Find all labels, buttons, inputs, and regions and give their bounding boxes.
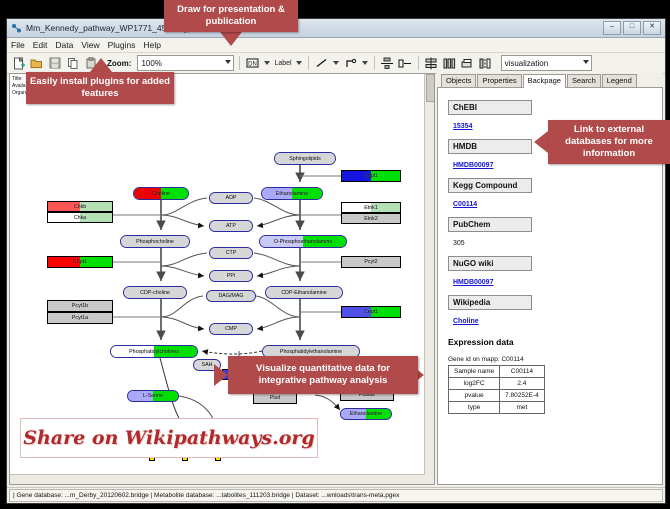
db-header-wikipedia: Wikipedia bbox=[448, 295, 532, 310]
datanode-tool-icon[interactable]: DN bbox=[245, 56, 260, 71]
line-dropdown-icon[interactable] bbox=[332, 56, 340, 70]
zoom-value: 100% bbox=[141, 59, 161, 68]
node-label: Pcyt1b bbox=[72, 303, 88, 309]
window-title-bar: Mm_Kennedy_pathway_WP1771_45176.gpml – □… bbox=[7, 19, 665, 38]
menu-item-plugins[interactable]: Plugins bbox=[108, 40, 136, 50]
annotation-links: Link to external databases for more info… bbox=[548, 120, 670, 164]
chevron-down-icon bbox=[583, 60, 589, 64]
node-label: ATP bbox=[226, 223, 236, 229]
db-header-hmdb: HMDB bbox=[448, 139, 532, 154]
menu-item-view[interactable]: View bbox=[81, 40, 99, 50]
scrollbar-thumb[interactable] bbox=[426, 74, 435, 102]
close-button[interactable]: ✕ bbox=[643, 21, 661, 35]
node-label: Sphingolipids bbox=[289, 156, 321, 162]
gene-node-etnk1[interactable]: Etnk1 bbox=[341, 202, 401, 213]
node-label: ADP bbox=[226, 195, 237, 201]
menu-bar: File Edit Data View Plugins Help bbox=[7, 38, 665, 53]
node-label: Etnk2 bbox=[364, 216, 378, 222]
node-label: CDP-choline bbox=[140, 290, 170, 296]
svg-text:DN: DN bbox=[249, 62, 258, 68]
expression-data-title: Expression data bbox=[448, 337, 662, 347]
annotation-plugins-arrow bbox=[90, 58, 112, 72]
visualization-combobox[interactable]: visualization bbox=[501, 55, 592, 71]
db-link-wikipedia[interactable]: Choline bbox=[453, 318, 479, 325]
minimize-button[interactable]: – bbox=[603, 21, 621, 35]
metabolite-node-ctp[interactable]: CTP bbox=[209, 247, 253, 259]
metabolite-node-o-phosphoethanolamine[interactable]: O-Phosphoethanolamine bbox=[259, 235, 347, 248]
save-disk-icon[interactable] bbox=[47, 56, 62, 71]
receptor-tool-icon[interactable] bbox=[343, 56, 358, 71]
metabolite-node-phosphocholine[interactable]: Phosphocholine bbox=[120, 235, 190, 248]
node-label: Etnk1 bbox=[364, 205, 378, 211]
gene-node-pcyt1b[interactable]: Pcyt1b bbox=[47, 300, 113, 312]
maximize-button[interactable]: □ bbox=[623, 21, 641, 35]
annotation-share: Share on Wikipathways.org bbox=[20, 418, 318, 458]
metabolite-node-cdp-choline[interactable]: CDP-choline bbox=[123, 286, 187, 299]
zoom-combobox[interactable]: 100% bbox=[137, 55, 234, 71]
group-icon[interactable] bbox=[398, 56, 413, 71]
gene-node-cept1[interactable]: Cept1 bbox=[341, 306, 401, 318]
metabolite-node-cmp[interactable]: CMP bbox=[209, 323, 253, 335]
status-bar-text: | Gene database: ...m_Derby_20120602.bri… bbox=[9, 489, 663, 502]
table-key-cell: Sample name bbox=[449, 366, 500, 378]
table-row: log2FC2.4 bbox=[449, 378, 545, 390]
pathvisio-icon bbox=[11, 23, 22, 34]
node-label: SAH bbox=[202, 362, 213, 368]
db-value-pubchem: 305 bbox=[453, 240, 465, 247]
menu-item-data[interactable]: Data bbox=[55, 40, 73, 50]
toolbar-separator bbox=[374, 56, 375, 70]
metabolite-node-sphingolipids[interactable]: Sphingolipids bbox=[274, 152, 336, 165]
db-header-kegg-compound: Kegg Compound bbox=[448, 178, 532, 193]
table-row: typemet bbox=[449, 402, 545, 414]
node-label: Pcyt2 bbox=[364, 259, 377, 265]
table-key-cell: log2FC bbox=[449, 378, 500, 390]
window-controls: – □ ✕ bbox=[603, 21, 661, 35]
node-label: L-Serine bbox=[143, 393, 163, 399]
annotation-visualize-arrow-left bbox=[214, 364, 228, 386]
menu-item-edit[interactable]: Edit bbox=[33, 40, 48, 50]
datanode-dropdown-icon[interactable] bbox=[263, 56, 271, 70]
distribute-icon[interactable] bbox=[442, 56, 457, 71]
tab-backpage[interactable]: Backpage bbox=[523, 74, 566, 88]
canvas-vertical-scrollbar[interactable] bbox=[424, 74, 434, 484]
tab-legend[interactable]: Legend bbox=[602, 74, 637, 87]
annotation-plugins: Easily install plugins for added feature… bbox=[26, 72, 174, 104]
toolbar-separator bbox=[239, 56, 240, 70]
metabolite-node-choline[interactable]: Choline bbox=[133, 187, 189, 200]
line-tool-icon[interactable] bbox=[314, 56, 329, 71]
gene-node-pcyt1a[interactable]: Pcyt1a bbox=[47, 312, 113, 324]
gene-node-pcyt2[interactable]: Pcyt2 bbox=[341, 256, 401, 268]
label-dropdown-icon[interactable] bbox=[295, 56, 303, 70]
expression-data-table: Sample nameC00114log2FC2.4pvalue7.80252E… bbox=[448, 365, 545, 414]
node-label: Choline bbox=[152, 191, 170, 197]
metabolite-node-ethanolamine[interactable]: Ethanolamine bbox=[340, 408, 392, 420]
gene-node-etnk2[interactable]: Etnk2 bbox=[341, 213, 401, 224]
menu-item-help[interactable]: Help bbox=[144, 40, 161, 50]
screenshot-root: Mm_Kennedy_pathway_WP1771_45176.gpml – □… bbox=[0, 0, 670, 509]
node-label: Pcyt1a bbox=[72, 315, 88, 321]
visualization-value: visualization bbox=[505, 59, 549, 68]
table-row: Sample nameC00114 bbox=[449, 366, 545, 378]
db-link-chebi[interactable]: 15354 bbox=[453, 123, 472, 130]
table-value-cell: met bbox=[500, 402, 545, 414]
node-label: O-Phosphoethanolamine bbox=[274, 239, 333, 245]
stack-icon[interactable] bbox=[424, 56, 439, 71]
annotation-draw: Draw for presentation & publication bbox=[164, 0, 298, 32]
db-link-hmdb[interactable]: HMDB00097 bbox=[453, 162, 493, 169]
node-label: Cept1 bbox=[364, 309, 378, 315]
metabolite-node-ppi[interactable]: PPi bbox=[209, 270, 253, 282]
menu-item-file[interactable]: File bbox=[11, 40, 25, 50]
gene-node-chkb[interactable]: Chkb bbox=[47, 201, 113, 212]
metabolite-node-ethanolamine[interactable]: Ethanolamine bbox=[261, 187, 323, 200]
gene-id-line: Gene id on mapp: C00114 bbox=[448, 356, 662, 363]
node-label: DAG/MAG bbox=[218, 293, 243, 299]
align-icon[interactable] bbox=[380, 56, 395, 71]
metabolite-node-adp[interactable]: ADP bbox=[209, 192, 253, 204]
annotation-links-arrow bbox=[534, 131, 548, 153]
new-file-icon[interactable] bbox=[11, 56, 26, 71]
node-label: CTP bbox=[226, 250, 237, 256]
table-key-cell: pvalue bbox=[449, 390, 500, 402]
status-bar: | Gene database: ...m_Derby_20120602.bri… bbox=[7, 487, 665, 503]
node-label: Phosphatidylethanolamine bbox=[280, 349, 342, 355]
tab-search[interactable]: Search bbox=[567, 74, 601, 87]
annotation-share-text: Share on Wikipathways.org bbox=[23, 427, 314, 449]
gene-node-chka[interactable]: Chka bbox=[47, 212, 113, 223]
table-value-cell: 2.4 bbox=[500, 378, 545, 390]
node-label: Phosphatidylcholines bbox=[129, 349, 179, 355]
node-label: Sgpl1 bbox=[364, 173, 378, 179]
toolbar-separator bbox=[418, 56, 419, 70]
metabolite-node-l-serine[interactable]: L-Serine bbox=[127, 390, 179, 402]
order-icon[interactable] bbox=[460, 56, 475, 71]
window-title: Mm_Kennedy_pathway_WP1771_45176.gpml bbox=[26, 23, 603, 33]
tab-objects[interactable]: Objects bbox=[441, 74, 476, 87]
side-panel-tabs: ObjectsPropertiesBackpageSearchLegend bbox=[437, 73, 663, 88]
node-label: Phosphocholine bbox=[136, 239, 174, 245]
db-header-nugo-wiki: NuGO wiki bbox=[448, 256, 532, 271]
receptor-dropdown-icon[interactable] bbox=[361, 56, 369, 70]
db-link-kegg-compound[interactable]: C00114 bbox=[453, 201, 477, 208]
db-header-chebi: ChEBI bbox=[448, 100, 532, 115]
metabolite-node-phosphatidylcholines[interactable]: Phosphatidylcholines bbox=[110, 345, 198, 358]
node-label: Chpt1 bbox=[73, 259, 87, 265]
node-label: Chkb bbox=[74, 204, 86, 210]
table-row: pvalue7.80252E-4 bbox=[449, 390, 545, 402]
db-link-nugo-wiki[interactable]: HMDB00097 bbox=[453, 279, 493, 286]
node-label: CDP-Ethanolamine bbox=[281, 290, 326, 296]
open-folder-icon[interactable] bbox=[29, 56, 44, 71]
table-key-cell: type bbox=[449, 402, 500, 414]
toolbar-separator bbox=[308, 56, 309, 70]
metabolite-node-atp[interactable]: ATP bbox=[209, 220, 253, 232]
metabolite-node-dag-mag[interactable]: DAG/MAG bbox=[206, 290, 256, 302]
node-label: Chka bbox=[74, 215, 86, 221]
layer-icon[interactable] bbox=[478, 56, 493, 71]
copy-icon[interactable] bbox=[65, 56, 80, 71]
node-label: PPi bbox=[227, 273, 235, 279]
node-label: CMP bbox=[225, 326, 237, 332]
canvas-horizontal-scrollbar[interactable] bbox=[10, 474, 425, 484]
annotation-visualize: Visualize quantitative data for integrat… bbox=[228, 356, 418, 394]
chevron-down-icon bbox=[225, 60, 231, 64]
table-value-cell: 7.80252E-4 bbox=[500, 390, 545, 402]
metabolite-node-cdp-ethanolamine[interactable]: CDP-Ethanolamine bbox=[265, 286, 343, 299]
tab-properties[interactable]: Properties bbox=[477, 74, 521, 87]
gene-node-chpt1[interactable]: Chpt1 bbox=[47, 256, 113, 268]
gene-node-sgpl1[interactable]: Sgpl1 bbox=[341, 170, 401, 182]
annotation-draw-arrow bbox=[220, 32, 242, 46]
db-header-pubchem: PubChem bbox=[448, 217, 532, 232]
table-value-cell: C00114 bbox=[500, 366, 545, 378]
node-label: Ethanolamine bbox=[276, 191, 308, 197]
node-label: Pisd bbox=[270, 395, 280, 401]
label-tool-label[interactable]: Label bbox=[274, 60, 291, 67]
node-label: Ethanolamine bbox=[350, 411, 382, 417]
